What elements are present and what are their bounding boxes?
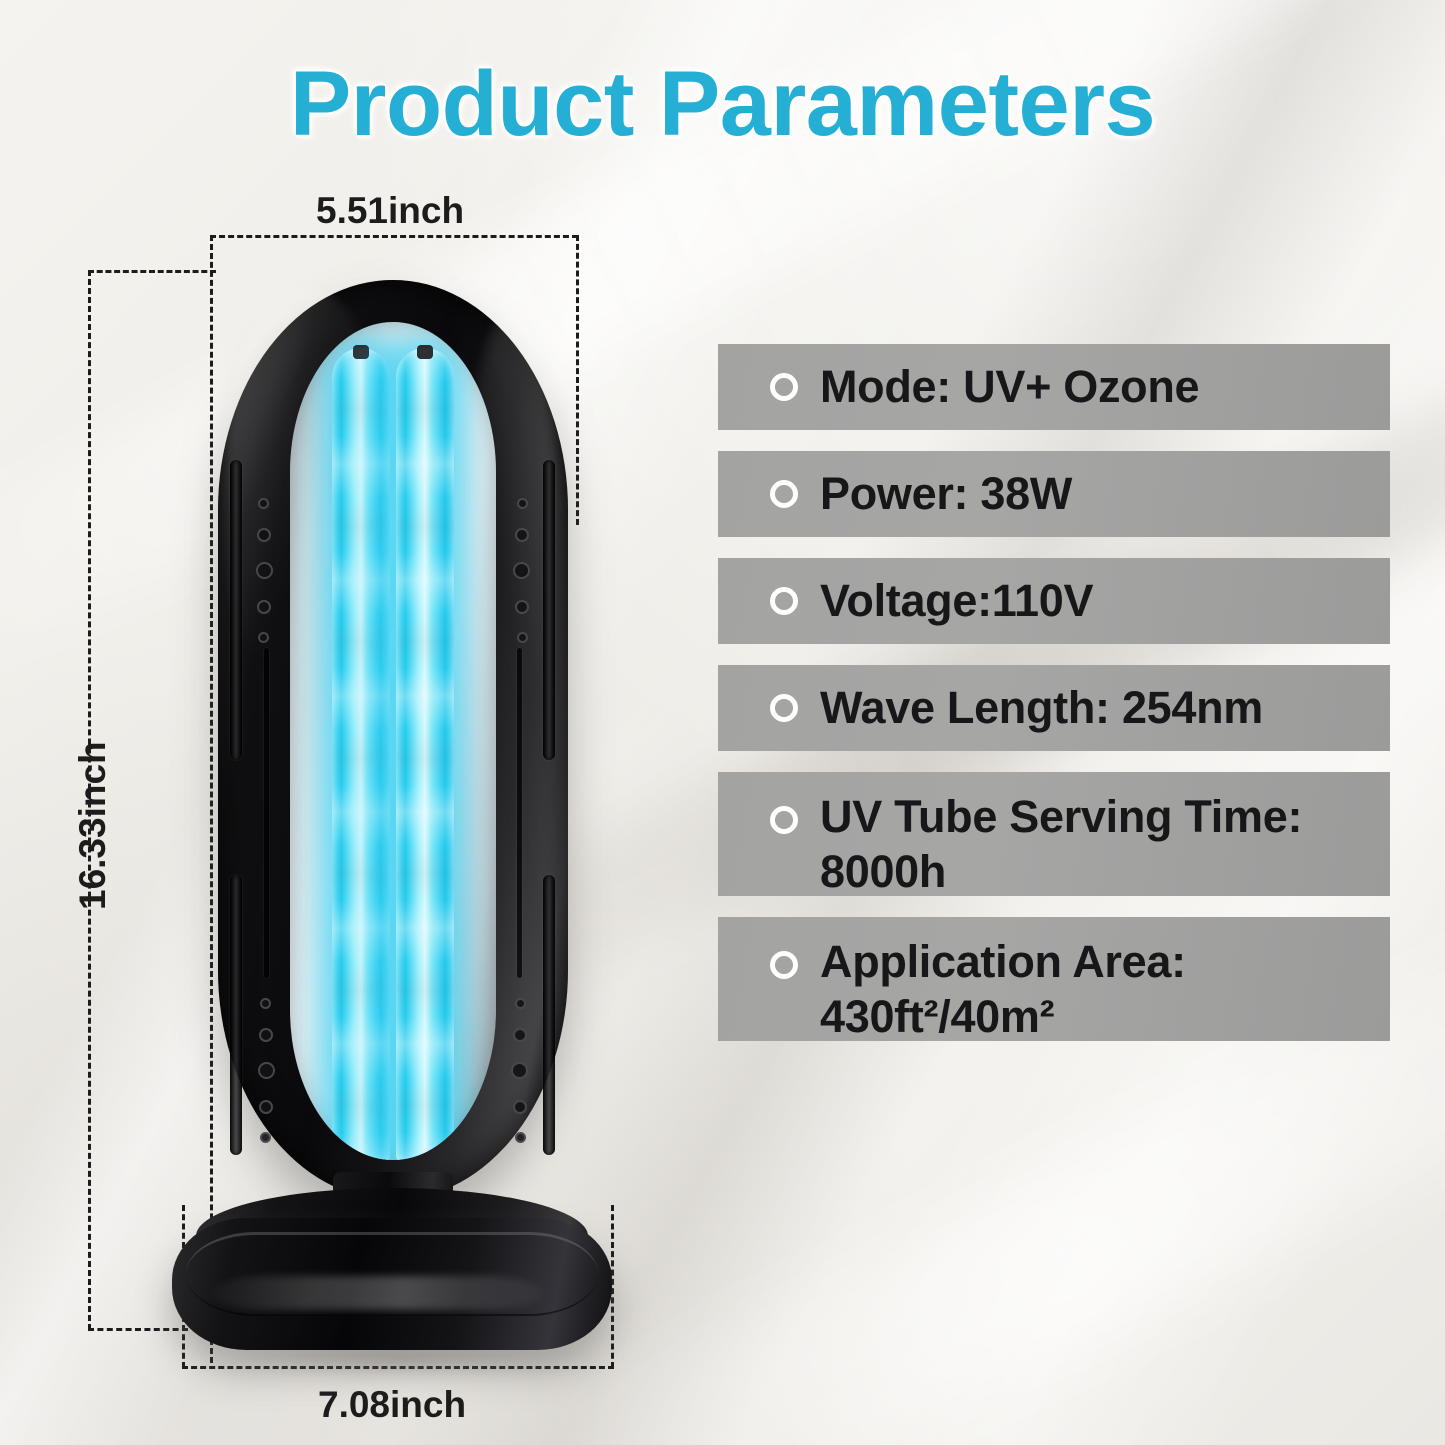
lamp-indicator-dot [513,1028,527,1042]
lamp-groove-right [517,648,522,978]
uv-tube-cap [417,345,433,359]
lamp-base [172,1188,612,1364]
spec-label-power: Power: 38W [820,467,1072,522]
spec-label-mode: Mode: UV+ Ozone [820,360,1199,415]
circle-bullet-icon [770,694,798,722]
dimension-line-height-top-tick [88,270,216,273]
lamp-indicator-dot [515,1132,526,1143]
dimension-line-width-top-right-tick [576,235,579,525]
dimension-label-height: 16.33inch [72,741,114,910]
lamp-indicator-dot [258,498,269,509]
lamp-vent-slot-left-upper [230,460,242,760]
lamp-vent-slot-right-upper [543,460,555,760]
dimension-label-width-top: 5.51inch [316,190,464,232]
spec-row-application-area: Application Area: 430ft²/40m² [718,917,1390,1041]
spec-row-uv-tube-serving-time: UV Tube Serving Time: 8000h [718,772,1390,896]
spec-row-power: Power: 38W [718,451,1390,537]
lamp-indicator-dot [517,632,528,643]
dimension-line-width-top [210,235,578,238]
lamp-inner-cavity [290,322,496,1160]
uv-tube-left [332,348,390,1160]
spec-row-wavelength: Wave Length: 254nm [718,665,1390,751]
circle-bullet-icon [770,806,798,834]
lamp-indicator-dot [259,1100,273,1114]
lamp-indicator-dot [513,1100,527,1114]
circle-bullet-icon [770,587,798,615]
lamp-indicator-dot [260,1132,271,1143]
product-parameters-infographic: Product Parameters 5.51inch 16.33inch 7.… [0,0,1445,1445]
lamp-groove-left [264,648,269,978]
dimension-label-base-width: 7.08inch [318,1384,466,1426]
uv-tube-right [396,348,454,1160]
base-highlight [212,1276,542,1310]
spec-label-voltage: Voltage:110V [820,574,1093,629]
lamp-indicator-dot [258,1062,275,1079]
lamp-indicator-dot [257,528,271,542]
uv-tube-group [329,348,457,1160]
lamp-indicator-dot [260,998,271,1009]
lamp-indicator-dot [258,632,269,643]
circle-bullet-icon [770,373,798,401]
spec-list: Mode: UV+ Ozone Power: 38W Voltage:110V … [718,344,1390,1062]
lamp-indicator-dot [515,528,529,542]
lamp-indicator-dot [257,600,271,614]
spec-row-mode: Mode: UV+ Ozone [718,344,1390,430]
lamp-indicator-dot [511,1062,528,1079]
lamp-indicator-dot [515,998,526,1009]
lamp-indicator-dot [515,600,529,614]
lamp-indicator-dot [513,562,530,579]
spec-row-voltage: Voltage:110V [718,558,1390,644]
uv-tube-cap [353,345,369,359]
circle-bullet-icon [770,951,798,979]
lamp-indicator-dot [259,1028,273,1042]
lamp-vent-slot-right-lower [543,875,555,1155]
product-illustration: 5.51inch 16.33inch 7.08inch [0,0,700,1445]
lamp-vent-slot-left-lower [230,875,242,1155]
spec-label-wavelength: Wave Length: 254nm [820,681,1263,736]
lamp-indicator-dot [517,498,528,509]
spec-label-application-area: Application Area: 430ft²/40m² [820,935,1186,1045]
circle-bullet-icon [770,480,798,508]
spec-label-uv-tube-serving-time: UV Tube Serving Time: 8000h [820,790,1302,900]
uv-lamp-device [218,280,568,1200]
lamp-indicator-dot [256,562,273,579]
